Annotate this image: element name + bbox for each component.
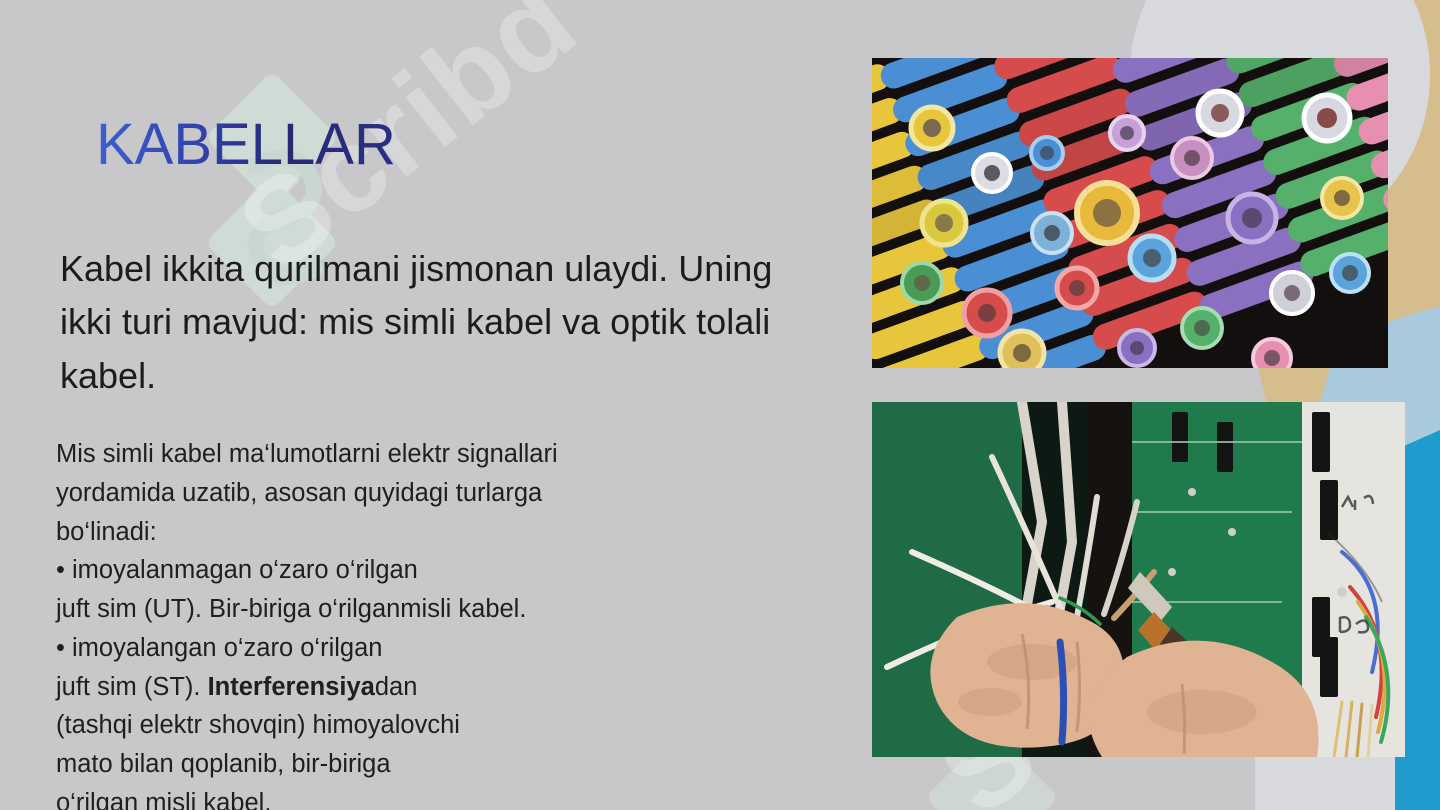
presentation-slide: Scribd Scribd KABELLAR Kabel ikkita quri… <box>0 0 1440 810</box>
page-title: KABELLAR <box>96 116 396 174</box>
body-line: mato bilan qoplanib, bir-biriga <box>56 745 816 784</box>
body-line-bullet: • imoyalanmagan o‘zaro o‘rilgan <box>56 551 816 590</box>
body-line-bullet: • imoyalangan o‘zaro o‘rilgan <box>56 629 816 668</box>
cable-bundle-illustration <box>872 58 1388 368</box>
body-line: Mis simli kabel ma‘lumotlarni elektr sig… <box>56 435 816 474</box>
body-line: juft sim (UT). Bir-biriga o‘rilganmisli … <box>56 590 816 629</box>
body-line: (tashqi elektr shovqin) himoyalovchi <box>56 706 816 745</box>
lead-paragraph: Kabel ikkita qurilmani jismonan ulaydi. … <box>60 242 800 402</box>
body-line-prefix: juft sim (ST). <box>56 673 208 701</box>
body-line: yordamida uzatib, asosan quyidagi turlar… <box>56 474 816 513</box>
wire-splicing-illustration <box>872 402 1405 757</box>
bold-term: Interferensiya <box>208 673 375 701</box>
body-copy: Mis simli kabel ma‘lumotlarni elektr sig… <box>56 435 816 810</box>
body-line: o‘rilgan misli kabel. <box>56 784 816 810</box>
body-line-suffix: dan <box>375 673 418 701</box>
body-line-emphasis: juft sim (ST). Interferensiyadan <box>56 668 816 707</box>
image-wire-splicing <box>872 402 1405 757</box>
image-cable-bundle <box>872 58 1388 368</box>
body-line: bo‘linadi: <box>56 513 816 552</box>
